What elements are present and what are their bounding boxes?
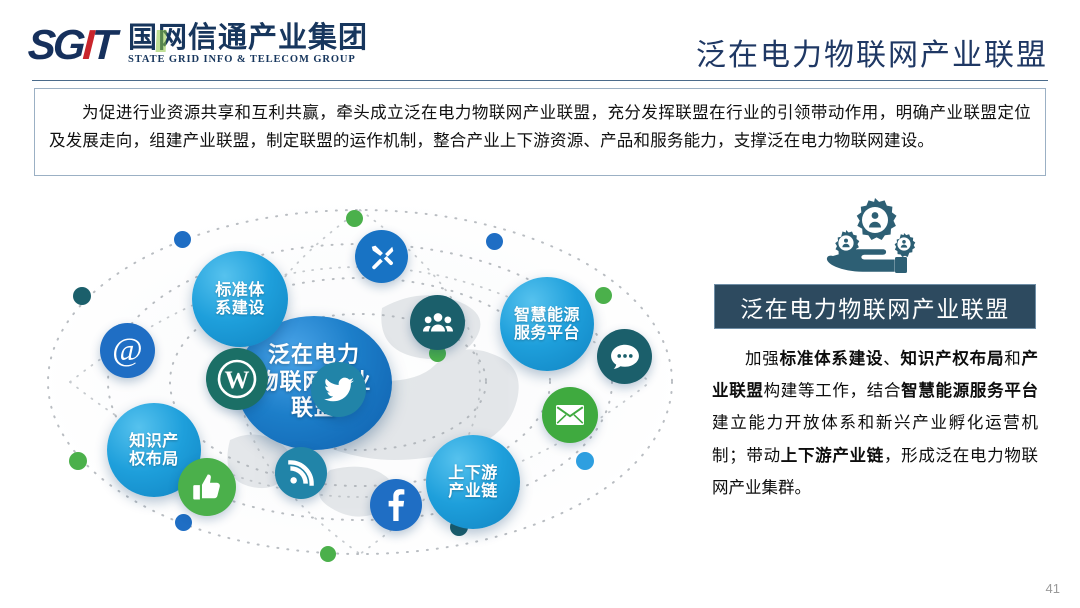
accent-dot: [73, 287, 91, 305]
rss-icon[interactable]: [275, 447, 327, 499]
paragraph-run: 构建等工作，结合: [764, 381, 902, 400]
alliance-banner: 泛在电力物联网产业联盟: [714, 284, 1036, 329]
twitter-icon[interactable]: [311, 362, 366, 417]
right-panel-paragraph: 加强标准体系建设、知识产权布局和产业联盟构建等工作，结合智慧能源服务平台建立能力…: [712, 343, 1038, 504]
node-label-line1: 知识产: [129, 432, 179, 450]
paragraph-run: 和: [1004, 349, 1021, 368]
node-label-line2: 系建设: [215, 299, 265, 317]
accent-dot: [69, 452, 87, 470]
accent-dot: [320, 546, 336, 562]
accent-dot: [595, 287, 612, 304]
sgit-logo-mark: SGIT: [27, 24, 115, 66]
right-panel: 泛在电力物联网产业联盟 加强标准体系建设、知识产权布局和产业联盟构建等工作，结合…: [700, 196, 1050, 504]
node-label-line2: 服务平台: [514, 324, 580, 342]
node-industry-chain[interactable]: 上下游 产业链: [426, 435, 520, 529]
envelope-glyph: [555, 404, 585, 426]
paragraph-emphasis: 知识产权布局: [901, 349, 1005, 368]
rss-glyph: [288, 460, 314, 486]
twitter-glyph: [324, 377, 354, 403]
accent-dot: [175, 514, 192, 531]
logo-green-bar: [156, 30, 167, 52]
chat-glyph: [610, 343, 640, 370]
svg-text:W: W: [225, 367, 250, 394]
tools-icon[interactable]: [355, 230, 408, 283]
hand-gears-icon-wrapper: [700, 196, 1050, 280]
at-icon[interactable]: @: [100, 323, 155, 378]
header-divider: [32, 80, 1048, 81]
network-diagram: 泛在电力 物联网产业 联盟 标准体 系建设 智慧能源 服务平台 知识产 权布局: [30, 190, 690, 570]
accent-dot: [346, 210, 363, 227]
facebook-glyph: [387, 489, 405, 521]
hand-with-gears-icon: [816, 196, 934, 280]
envelope-icon[interactable]: [542, 387, 598, 443]
accent-dot: [486, 233, 503, 250]
paragraph-run: 加强: [745, 349, 780, 368]
center-node-line1: 泛在电力: [256, 343, 371, 370]
node-label-line2: 权布局: [129, 450, 179, 468]
node-label-line1: 上下游: [448, 464, 498, 482]
wordpress-icon[interactable]: W: [206, 348, 268, 410]
paragraph-emphasis: 上下游产业链: [781, 446, 884, 465]
paragraph-emphasis: 标准体系建设: [780, 349, 884, 368]
people-glyph: [423, 310, 453, 336]
company-logo: SGIT 国网信通产业集团 STATE GRID INFO & TELECOM …: [28, 22, 368, 66]
node-label-line1: 标准体: [215, 281, 265, 299]
slide-root: SGIT 国网信通产业集团 STATE GRID INFO & TELECOM …: [0, 0, 1080, 608]
logo-mark-part1: SG: [27, 21, 84, 68]
node-label-line2: 产业链: [448, 482, 498, 500]
thumbsup-icon[interactable]: [178, 458, 236, 516]
page-title: 泛在电力物联网产业联盟: [696, 30, 1048, 74]
logo-mark-part2: T: [90, 21, 115, 68]
intro-textbox: 为促进行业资源共享和互利共赢，牵头成立泛在电力物联网产业联盟，充分发挥联盟在行业…: [34, 88, 1046, 176]
intro-paragraph: 为促进行业资源共享和互利共赢，牵头成立泛在电力物联网产业联盟，充分发挥联盟在行业…: [49, 99, 1031, 154]
facebook-icon[interactable]: [370, 479, 422, 531]
wordpress-glyph: W: [213, 355, 261, 403]
node-standard-system[interactable]: 标准体 系建设: [192, 251, 288, 347]
paragraph-run: 、: [883, 349, 900, 368]
slide-header: SGIT 国网信通产业集团 STATE GRID INFO & TELECOM …: [0, 0, 1080, 80]
chat-icon[interactable]: [597, 329, 652, 384]
paragraph-emphasis: 智慧能源服务平台: [901, 381, 1038, 400]
thumbsup-glyph: [192, 472, 222, 502]
people-icon[interactable]: [410, 295, 465, 350]
logo-company-name-en: STATE GRID INFO & TELECOM GROUP: [128, 54, 368, 65]
node-label-line1: 智慧能源: [514, 306, 580, 324]
at-glyph: @: [112, 334, 142, 367]
node-smart-energy-platform[interactable]: 智慧能源 服务平台: [500, 277, 594, 371]
accent-dot: [174, 231, 191, 248]
page-number: 41: [1046, 581, 1060, 596]
tools-glyph: [368, 243, 396, 271]
accent-dot: [576, 452, 594, 470]
